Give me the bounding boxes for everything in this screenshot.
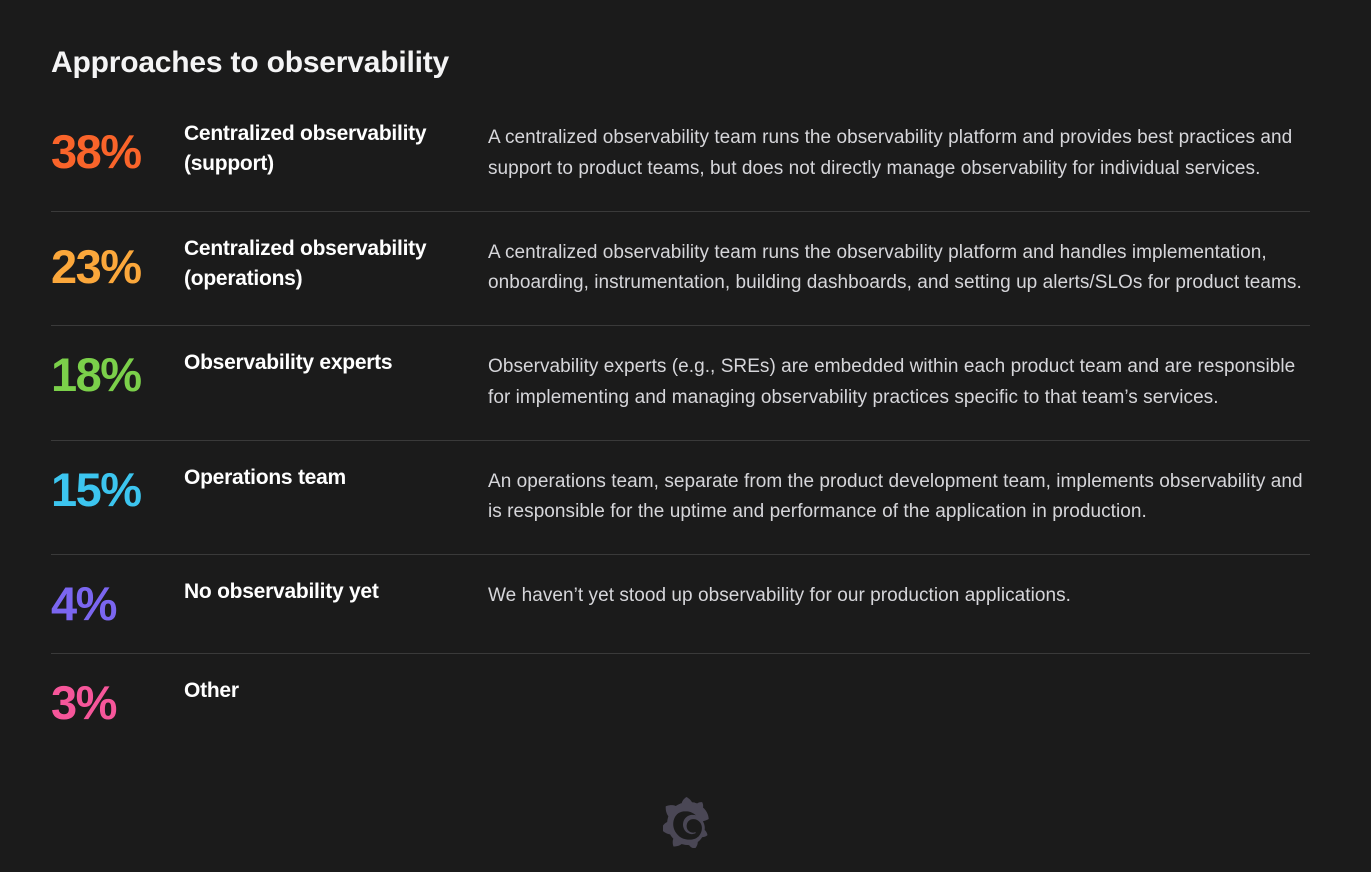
approach-label-cell: Operations team [184,463,488,493]
approaches-to-observability-card: Approaches to observability 38% Centrali… [0,0,1371,872]
approach-description-cell: An operations team, separate from the pr… [488,463,1310,529]
list-item: 15% Operations team An operations team, … [51,440,1310,555]
approach-label: No observability yet [184,577,466,607]
percent-value: 3% [51,679,184,726]
approach-label: Centralized observability (support) [184,119,466,180]
approach-label-cell: Centralized observability (operations) [184,234,488,295]
approach-label: Operations team [184,463,466,493]
percent-cell: 4% [51,577,184,627]
list-item: 3% Other [51,653,1310,752]
approach-label-cell: Other [184,676,488,706]
approach-label: Centralized observability (operations) [184,234,466,295]
approach-label-cell: Centralized observability (support) [184,119,488,180]
approach-label: Observability experts [184,348,466,378]
approach-description-cell: We haven’t yet stood up observability fo… [488,577,1310,612]
approach-description: Observability experts (e.g., SREs) are e… [488,352,1310,414]
approach-label: Other [184,676,466,706]
approach-description-cell: A centralized observability team runs th… [488,234,1310,300]
percent-value: 23% [51,243,184,290]
list-item: 4% No observability yet We haven’t yet s… [51,554,1310,653]
approach-description: A centralized observability team runs th… [488,123,1310,185]
percent-value: 4% [51,580,184,627]
approach-description: A centralized observability team runs th… [488,238,1310,300]
approach-description-cell: A centralized observability team runs th… [488,119,1310,185]
grafana-logo-icon [663,797,711,848]
approaches-list: 38% Centralized observability (support) … [51,106,1310,752]
percent-cell: 18% [51,348,184,398]
approach-description: We haven’t yet stood up observability fo… [488,581,1310,612]
percent-value: 38% [51,128,184,175]
percent-value: 18% [51,351,184,398]
approach-description-cell: Observability experts (e.g., SREs) are e… [488,348,1310,414]
percent-cell: 15% [51,463,184,513]
page-title: Approaches to observability [51,44,449,82]
approach-description: An operations team, separate from the pr… [488,467,1310,529]
percent-cell: 38% [51,119,184,175]
approach-label-cell: Observability experts [184,348,488,378]
list-item: 38% Centralized observability (support) … [51,106,1310,211]
approach-label-cell: No observability yet [184,577,488,607]
list-item: 18% Observability experts Observability … [51,325,1310,440]
percent-cell: 23% [51,234,184,290]
list-item: 23% Centralized observability (operation… [51,211,1310,326]
percent-value: 15% [51,466,184,513]
percent-cell: 3% [51,676,184,726]
